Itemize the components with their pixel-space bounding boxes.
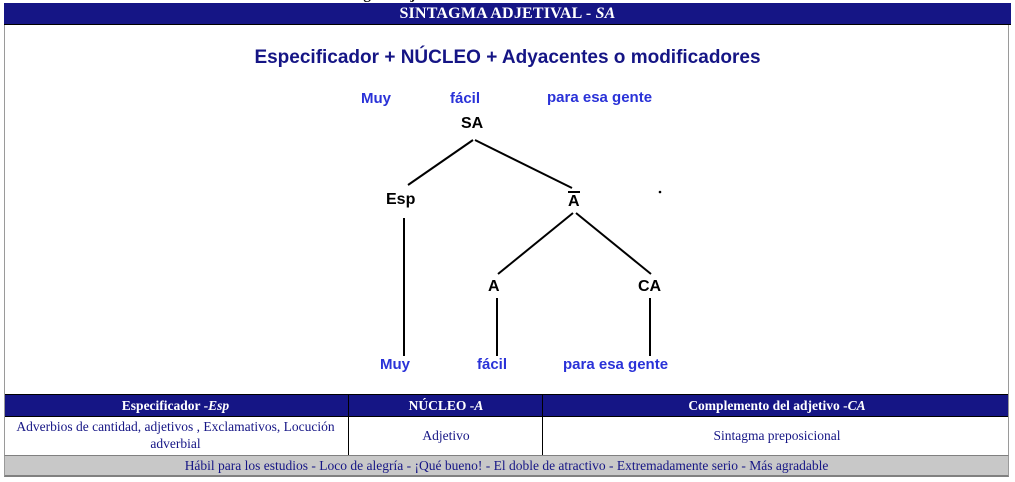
tree-branches [5, 25, 1010, 394]
table-cell-complement-description: Sintagma preposicional [546, 417, 1008, 455]
table-cell-nucleus-description: Adjetivo [350, 417, 542, 455]
terminal-word-nucleus: fácil [477, 356, 507, 373]
table-header-specifier-abbr: Esp [208, 398, 229, 414]
tree-node-esp: Esp [386, 191, 415, 209]
table-description-row: Adverbios de cantidad, adjetivos , Excla… [5, 417, 1008, 456]
table-cell-specifier-description: Adverbios de cantidad, adjetivos , Excla… [5, 417, 346, 455]
table-header-specifier: Especificador - Esp [5, 395, 346, 416]
table-header-nucleus-abbr: A [474, 398, 483, 414]
table-divider-left-body [348, 417, 349, 455]
table-header-nucleus-label: NÚCLEO - [409, 398, 475, 414]
table-header-complement-label: Complemento del adjetivo - [688, 398, 847, 414]
table-header-specifier-label: Especificador - [122, 398, 208, 414]
table-header-row: Especificador - Esp NÚCLEO - A Complemen… [5, 394, 1008, 417]
tree-node-sa: SA [461, 115, 483, 133]
page-title-abbr: SA [596, 5, 616, 22]
tree-node-a: A [488, 278, 500, 296]
table-header-complement: Complemento del adjetivo - CA [546, 395, 1008, 416]
table-header-nucleus: NÚCLEO - A [350, 395, 542, 416]
terminal-word-complement: para esa gente [563, 356, 668, 373]
tree-node-a-bar-label: A [568, 191, 580, 210]
page-title: SINTAGMA ADJETIVAL - SA [399, 5, 615, 23]
examples-footer: Hábil para los estudios - Loco de alegrí… [4, 455, 1009, 477]
tree-node-ca: CA [638, 278, 661, 296]
terminal-word-specifier: Muy [380, 356, 410, 373]
page-root: Sintagma adjetival SINTAGMA ADJETIVAL - … [0, 0, 1015, 482]
table-header-complement-abbr: CA [848, 398, 866, 414]
table-divider-right-body [542, 417, 543, 455]
diagram-canvas: Especificador + NÚCLEO + Adyacentes o mo… [4, 25, 1009, 394]
summary-table: Especificador - Esp NÚCLEO - A Complemen… [4, 394, 1009, 456]
table-divider-left [348, 395, 349, 416]
title-bar: SINTAGMA ADJETIVAL - SA [4, 3, 1011, 25]
table-divider-right [542, 395, 543, 416]
page-title-main: SINTAGMA ADJETIVAL - [399, 5, 595, 22]
tree-node-a-bar: A [568, 191, 580, 211]
